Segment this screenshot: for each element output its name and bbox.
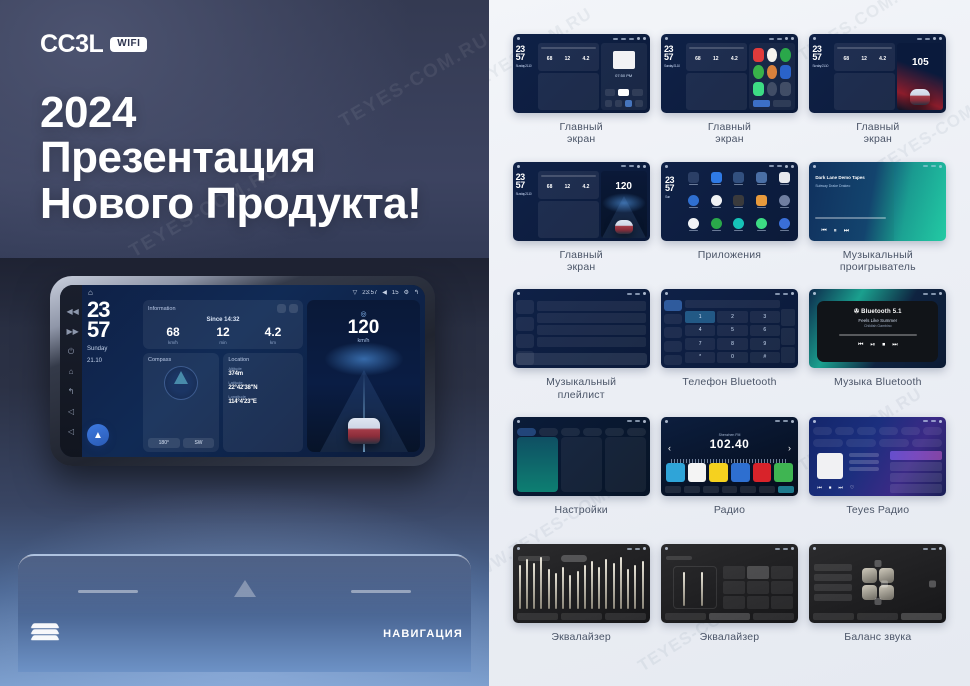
app-icon-maps[interactable] — [706, 218, 727, 238]
thumbnail-player[interactable]: Dark Lane Demo Tapes Subway Drake Drakeo… — [809, 162, 946, 241]
t-balance-tabs[interactable] — [813, 613, 942, 620]
t-settings-tabs[interactable] — [517, 428, 646, 436]
app-icon-bt-music[interactable] — [729, 172, 750, 192]
thumbnail-caption: Главныйэкран — [708, 121, 751, 146]
grid-cell[interactable]: 2357Sunday 21.10 68124.2 — [655, 34, 803, 162]
home-icon[interactable]: ⌂ — [67, 367, 76, 376]
thumbnail-apps[interactable]: 2357Sun — [661, 162, 798, 241]
t-clock: 2357Sunday 21.10 — [516, 43, 536, 110]
navigation-label: НАВИГАЦИЯ — [383, 628, 463, 640]
app-icon-bluetooth[interactable] — [706, 172, 727, 192]
refresh-icon[interactable] — [277, 304, 286, 313]
app-icon-camera[interactable] — [774, 172, 795, 192]
thumbnail-caption: Главныйэкран — [856, 121, 899, 146]
page-title: 2024 Презентация Нового Продукта! — [40, 90, 421, 226]
car-dashboard-image: ◀◀ ▶▶ ⏻ ⌂ ↰ ◁ ◁ ⌂ ▽ 23:57 — [0, 258, 489, 686]
t-settings-cards[interactable] — [517, 437, 646, 492]
t-status-bar — [513, 34, 650, 43]
altitude-row: Altitude 374m — [228, 366, 298, 377]
stat-distance: 4.2 km — [248, 326, 298, 345]
hero-title-line1: Презентация — [40, 135, 421, 180]
clock-column: 23 57 Sunday 21.10 ▲ — [87, 300, 139, 452]
thumbnail-caption: Приложения — [698, 249, 761, 261]
compass-direction: SW — [183, 438, 215, 448]
grid-cell[interactable]: 2357Sunday 21.10 68124.2 07:50 PM — [507, 34, 655, 162]
t-bt-artist: Childish Gambino — [864, 324, 892, 328]
t-lower-cards — [538, 73, 599, 110]
compass-heading: 180° — [148, 438, 180, 448]
t-next-station-icon[interactable]: › — [788, 443, 791, 453]
thumbnail-caption: Главныйэкран — [560, 249, 603, 274]
trip-stats: 68 km/h 12 min 4.2 — [148, 326, 298, 345]
dashboard-vents — [18, 554, 471, 672]
thumbnail-home-3[interactable]: 2357Sunday 21.10 68124.2 105 — [809, 34, 946, 113]
t-track-artist: Subway Drake Drakeo — [815, 184, 850, 188]
thumbnail-caption: Музыкальныйплейлист — [546, 376, 616, 401]
t-eq-sliders[interactable] — [519, 566, 644, 609]
car-graphic — [348, 418, 380, 444]
hazard-button-icon[interactable] — [234, 580, 256, 597]
t-bt-version: ✇ Bluetooth 5.1 — [854, 308, 902, 315]
information-card[interactable]: Information Since 14:32 68 — [143, 300, 303, 349]
stat-speed: 68 km/h — [148, 326, 198, 345]
t-radio-toolbar[interactable] — [665, 486, 794, 493]
head-unit-bezel: ◀◀ ▶▶ ⏻ ⌂ ↰ ◁ ◁ ⌂ ▽ 23:57 — [50, 276, 435, 466]
hero-panel: TEYES-COM.RU TEYES-COM.RU TEYES-COM.RU C… — [0, 0, 489, 686]
clock-day: Sunday — [87, 345, 139, 353]
grid-cell[interactable]: Эквалайзер — [655, 544, 803, 672]
speed-readout: ◎ 120 km/h — [307, 310, 420, 344]
longitude-row: Longitude 114°4'23"E — [228, 394, 298, 405]
head-unit-inner: ◀◀ ▶▶ ⏻ ⌂ ↰ ◁ ◁ ⌂ ▽ 23:57 — [60, 285, 425, 457]
brand-name: CC3L — [40, 30, 103, 59]
grid-cell[interactable]: 2357Sun — [655, 162, 803, 290]
t-eq-tabs[interactable] — [517, 613, 646, 620]
wifi-icon: ▽ — [353, 289, 358, 296]
t-call-actions[interactable] — [781, 309, 795, 363]
thumbnail-caption: Teyes Радио — [846, 504, 909, 516]
t-home-layout: 2357Sunday 21.10 68124.2 07:50 PM — [516, 43, 647, 110]
t-eq-tabs[interactable] — [665, 613, 794, 620]
widgets-row-2: Compass 180° SW Location — [143, 353, 303, 452]
app-icon-music[interactable] — [729, 218, 750, 238]
app-icon-playstore[interactable] — [751, 218, 772, 238]
t-mini-player[interactable] — [516, 353, 647, 365]
app-icon-gallery[interactable] — [774, 195, 795, 215]
information-card-header: Information — [148, 304, 298, 313]
grid-cell[interactable]: Настройки — [507, 417, 655, 545]
t-track-title: Dark Lane Demo Tapes — [815, 175, 864, 180]
grid-cell[interactable]: Shenzhen FM 102.40 ‹ › — [655, 417, 803, 545]
t-media-card: 07:50 PM — [601, 43, 647, 110]
volume-icon: ◀ — [382, 289, 387, 296]
thumbnail-home-1[interactable]: 2357Sunday 21.10 68124.2 07:50 PM — [513, 34, 650, 113]
thumbnail-home-4[interactable]: 2357Sunday 21.10 68124.2 120 — [513, 162, 650, 241]
thumbnail-caption: Настройки — [555, 504, 608, 516]
grid-cell[interactable]: Эквалайзер — [507, 544, 655, 672]
speed-unit: km/h — [307, 338, 420, 344]
compass-title: Compass — [148, 357, 214, 363]
grid-cell[interactable]: 1 2 3 4 5 6 7 8 9 * 0 # Телеф — [655, 289, 803, 417]
t-teyes-tabs[interactable] — [813, 427, 942, 435]
app-icon-avin[interactable] — [683, 172, 704, 192]
t-radio-freq: 102.40 — [661, 437, 798, 451]
t-prev-station-icon[interactable]: ‹ — [668, 443, 671, 453]
location-card[interactable]: Location Altitude 374m Latitude 22°42'38… — [223, 353, 303, 452]
app-icon-equalizer[interactable] — [729, 195, 750, 215]
thumbnail-playlist[interactable] — [513, 289, 650, 368]
thumbnail-caption: Телефон Bluetooth — [682, 376, 776, 388]
vent-slot-left — [78, 590, 138, 593]
hero-year: 2024 — [40, 90, 421, 135]
grid-cell[interactable]: 2357Sunday 21.10 68124.2 105 Главныйэкра… — [804, 34, 952, 162]
grid-cell[interactable]: Dark Lane Demo Tapes Subway Drake Drakeo… — [804, 162, 952, 290]
app-icon-radio[interactable] — [774, 218, 795, 238]
widgets-column: Information Since 14:32 68 — [143, 300, 303, 452]
information-title: Information — [148, 306, 176, 312]
expand-icon[interactable] — [289, 304, 298, 313]
thumbnail-grid: 2357Sunday 21.10 68124.2 07:50 PM — [489, 0, 970, 686]
t-radio-presets[interactable] — [666, 463, 793, 482]
compass-readout: 180° SW — [148, 438, 214, 448]
presentation-page: TEYES-COM.RU TEYES-COM.RU TEYES-COM.RU C… — [0, 0, 970, 686]
layers-icon — [32, 622, 58, 642]
t-info-card: 68124.2 — [538, 43, 599, 71]
compass-dial — [164, 366, 198, 400]
status-volume: 15 — [392, 290, 399, 296]
power-icon[interactable]: ⏻ — [67, 347, 76, 356]
drive-view-card[interactable]: ◎ 120 km/h — [307, 300, 420, 452]
t-bt-info: ✇ Bluetooth 5.1 Feels Like Summer Childi… — [809, 289, 946, 368]
t-speed: 105 — [897, 57, 943, 68]
navigation-fab[interactable]: ▲ — [87, 424, 109, 446]
t-teyes-subtabs[interactable] — [813, 439, 942, 447]
t-speaker-grid[interactable] — [862, 568, 894, 600]
thumbnail-caption: Музыка Bluetooth — [834, 376, 922, 388]
thumbnail-settings[interactable] — [513, 417, 650, 496]
volume-up-icon[interactable]: ◁ — [67, 427, 76, 436]
thumbnail-teyes-radio[interactable]: ⏮⏹⏭♡ — [809, 417, 946, 496]
app-icon-filemanager[interactable] — [751, 195, 772, 215]
grid-cell[interactable]: Музыкальныйплейлист — [507, 289, 655, 417]
t-bt-controls[interactable]: ⏮⏯⏹⏭ — [858, 342, 898, 349]
t-keypad[interactable]: 1 2 3 4 5 6 7 8 9 * 0 # — [685, 311, 780, 363]
head-unit-screen[interactable]: ⌂ ▽ 23:57 ◀ 15 ⚙ ↰ 23 57 — [82, 285, 425, 457]
gear-icon[interactable]: ⚙ — [404, 289, 409, 296]
vent-slot-right — [351, 590, 411, 593]
t-radio-readout: Shenzhen FM 102.40 — [661, 433, 798, 451]
brand-logo: CC3L WIFI — [40, 30, 147, 59]
grid-cell[interactable]: Баланс звука — [804, 544, 952, 672]
t-teyes-controls[interactable]: ⏮⏹⏭♡ — [817, 485, 854, 491]
clock-minutes: 57 — [87, 320, 139, 340]
side-button-rail[interactable]: ◀◀ ▶▶ ⏻ ⌂ ↰ ◁ ◁ — [60, 285, 82, 457]
next-track-icon[interactable]: ▶▶ — [67, 327, 76, 336]
home-icon[interactable]: ⌂ — [88, 288, 93, 297]
thumbnail-home-2[interactable]: 2357Sunday 21.10 68124.2 — [661, 34, 798, 113]
app-icon-clock[interactable] — [706, 195, 727, 215]
status-bar: ⌂ ▽ 23:57 ◀ 15 ⚙ ↰ — [82, 285, 425, 300]
t-clock-sub: Sunday 21.10 — [516, 64, 536, 69]
thumbnail-balance[interactable] — [809, 544, 946, 623]
home-screen-body: 23 57 Sunday 21.10 ▲ Information — [82, 300, 425, 457]
grid-cell[interactable]: ✇ Bluetooth 5.1 Feels Like Summer Childi… — [804, 289, 952, 417]
thumbnail-bt-music[interactable]: ✇ Bluetooth 5.1 Feels Like Summer Childi… — [809, 289, 946, 368]
compass-card[interactable]: Compass 180° SW — [143, 353, 219, 452]
t-widgets: 68124.2 — [538, 43, 599, 110]
thumbnail-caption: Музыкальныйпроигрыватель — [840, 249, 916, 274]
wifi-badge: WIFI — [110, 37, 147, 52]
grid-cell[interactable]: 2357Sunday 21.10 68124.2 120 Гла — [507, 162, 655, 290]
volume-down-icon[interactable]: ◁ — [67, 407, 76, 416]
app-icon-chrome[interactable] — [683, 195, 704, 215]
t-speed: 120 — [601, 181, 647, 192]
app-icon-calculator[interactable] — [751, 172, 772, 192]
thumbnail-caption: Радио — [714, 504, 745, 516]
location-title: Location — [228, 357, 298, 363]
thumbnail-eq-1[interactable] — [513, 544, 650, 623]
thumbnail-bt-phone[interactable]: 1 2 3 4 5 6 7 8 9 * 0 # — [661, 289, 798, 368]
status-time: 23:57 — [362, 290, 377, 296]
grid-cell[interactable]: ⏮⏹⏭♡ Teyes Радио — [804, 417, 952, 545]
thumbnail-caption: Эквалайзер — [551, 631, 611, 643]
since-label: Since 14:32 — [148, 317, 298, 323]
screenshot-grid-panel: TEYES-COM.RU TEYES.COM.RU TEYES-COM.RU W… — [489, 0, 970, 686]
thumbnail-eq-2[interactable] — [661, 544, 798, 623]
back-icon[interactable]: ↰ — [414, 289, 419, 296]
thumbnail-caption: Баланс звука — [844, 631, 911, 643]
clock-date: 21.10 — [87, 357, 139, 365]
t-balance-presets[interactable] — [814, 564, 852, 601]
app-icon-google[interactable] — [683, 218, 704, 238]
back-icon[interactable]: ↰ — [67, 387, 76, 396]
thumbnail-caption: Главныйэкран — [560, 121, 603, 146]
t-phone-sidebar[interactable] — [664, 300, 682, 365]
hero-title-line2: Нового Продукта! — [40, 181, 421, 226]
t-bt-track: Feels Like Summer — [858, 318, 897, 323]
prev-track-icon[interactable]: ◀◀ — [67, 307, 76, 316]
latitude-row: Latitude 22°42'38"N — [228, 380, 298, 391]
speed-value: 120 — [307, 318, 420, 337]
t-player-controls[interactable]: ⏮⏸⏭ — [821, 228, 849, 235]
app-grid[interactable] — [683, 172, 795, 238]
thumbnail-radio[interactable]: Shenzhen FM 102.40 ‹ › — [661, 417, 798, 496]
t-track-list[interactable] — [537, 301, 646, 352]
stat-time: 12 min — [198, 326, 248, 345]
thumbnail-caption: Эквалайзер — [700, 631, 760, 643]
